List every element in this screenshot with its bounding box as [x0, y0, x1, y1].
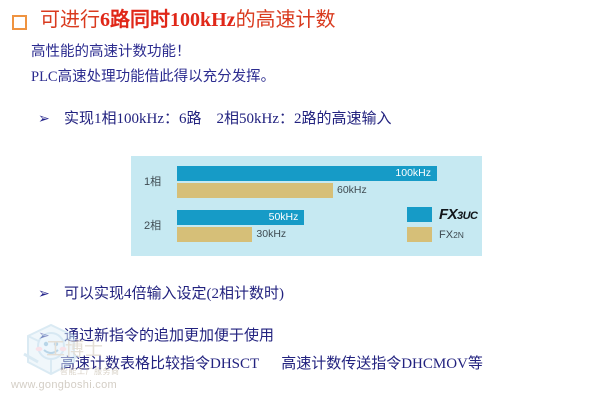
- title-suffix: 的高速计数: [236, 9, 336, 31]
- comparison-bar-chart: 1相 100kHz 60kHz 2相 50kHz 30kHz F: [131, 156, 482, 256]
- legend-brand-main-fx2n: FX: [439, 229, 453, 241]
- watermark-url: www.gongboshi.com: [11, 379, 117, 391]
- arrow-bullet-icon: ➢: [38, 329, 64, 343]
- bar-track-2phase-fx3uc: 50kHz: [177, 210, 437, 225]
- legend-brand-main-fx3uc: FX: [439, 206, 457, 223]
- title-emphasis-channels: 6路同时: [100, 9, 170, 31]
- bullet-text-high-speed-input: 实现1相100kHz：6路 2相50kHz：2路的高速输入: [64, 110, 391, 128]
- chart-category-label-0: 1相: [144, 173, 161, 189]
- instruction-item-dhsct: 高速计数表格比较指令DHSCT: [60, 356, 259, 372]
- legend-label-fx3uc: FX3UC: [439, 206, 477, 223]
- instruction-item-dhcmov: 高速计数传送指令DHCMOV等: [281, 356, 483, 372]
- bullet-text-quadruple-input: 可以实现4倍输入设定(2相计数时): [64, 285, 284, 303]
- bar-value-2phase-fx2n: 30kHz: [256, 228, 286, 241]
- bullet-row-quadruple-input: ➢ 可以实现4倍输入设定(2相计数时): [38, 285, 284, 303]
- bar-value-1phase-fx2n: 60kHz: [337, 184, 367, 197]
- legend-swatch-fx2n: [407, 227, 432, 242]
- bar-track-2phase-fx2n: 30kHz: [177, 227, 437, 242]
- title-prefix: 可进行: [40, 9, 100, 31]
- legend-item-fx3uc: FX3UC: [407, 206, 477, 223]
- page-title: 可进行6路同时100kHz的高速计数: [12, 8, 336, 32]
- arrow-bullet-icon: ➢: [38, 112, 64, 126]
- body-line-1: 高性能的高速计数功能！: [31, 43, 191, 61]
- legend-label-fx2n: FX2N: [439, 229, 464, 241]
- page-title-text: 可进行6路同时100kHz的高速计数: [40, 8, 336, 32]
- chart-legend: FX3UC FX2N: [407, 206, 477, 246]
- arrow-bullet-icon: ➢: [38, 287, 64, 301]
- legend-brand-sub-fx3uc: 3UC: [457, 210, 478, 222]
- bar-track-1phase-fx2n: 60kHz: [177, 183, 437, 198]
- body-line-2: PLC高速处理功能借此得以充分发挥。: [31, 68, 275, 86]
- instruction-list: 高速计数表格比较指令DHSCT高速计数传送指令DHCMOV等: [60, 355, 483, 373]
- legend-swatch-fx3uc: [407, 207, 432, 222]
- bullet-row-high-speed-input: ➢ 实现1相100kHz：6路 2相50kHz：2路的高速输入: [38, 110, 391, 128]
- bar-1phase-fx2n: 60kHz: [177, 183, 333, 198]
- bullet-text-new-instructions: 通过新指令的追加更加便于使用: [64, 327, 274, 345]
- bar-value-1phase-fx3uc: 100kHz: [395, 167, 431, 180]
- bar-1phase-fx3uc: 100kHz: [177, 166, 437, 181]
- bullet-row-new-instructions: ➢ 通过新指令的追加更加便于使用: [38, 327, 274, 345]
- bar-value-2phase-fx3uc: 50kHz: [269, 211, 299, 224]
- legend-brand-sub-fx2n: 2N: [453, 230, 464, 240]
- chart-category-label-1: 2相: [144, 217, 161, 233]
- bar-2phase-fx3uc: 50kHz: [177, 210, 304, 225]
- bar-track-1phase-fx3uc: 100kHz: [177, 166, 437, 181]
- title-bullet-icon: [12, 15, 27, 30]
- bar-2phase-fx2n: 30kHz: [177, 227, 252, 242]
- legend-item-fx2n: FX2N: [407, 226, 477, 243]
- title-emphasis-frequency: 100kHz: [170, 9, 236, 31]
